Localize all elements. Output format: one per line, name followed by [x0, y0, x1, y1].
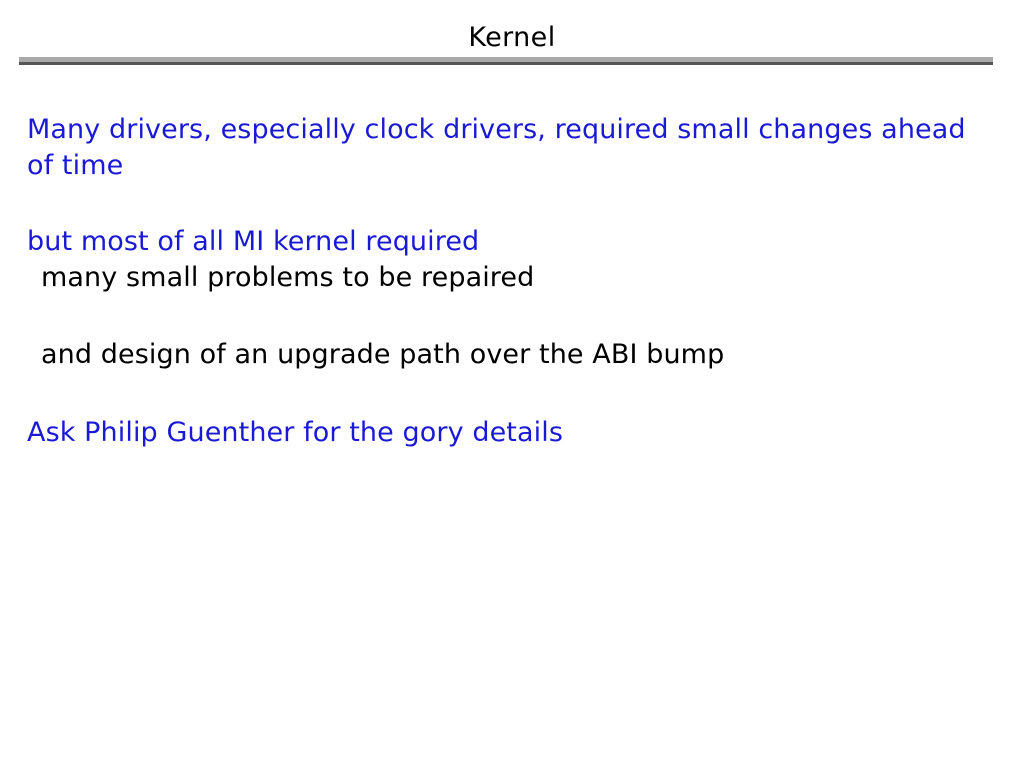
- bullet-mi-kernel-heading: but most of all MI kernel required: [27, 224, 992, 260]
- slide-canvas: Kernel Many drivers, especially clock dr…: [0, 0, 1024, 768]
- bullet-ask-philip-note: Ask Philip Guenther for the gory details: [27, 415, 992, 451]
- slide-body: Many drivers, especially clock drivers, …: [0, 0, 1024, 768]
- bullet-small-problems-item: many small problems to be repaired: [41, 260, 991, 296]
- bullet-drivers-note: Many drivers, especially clock drivers, …: [27, 112, 992, 184]
- bullet-upgrade-path-item: and design of an upgrade path over the A…: [41, 337, 991, 373]
